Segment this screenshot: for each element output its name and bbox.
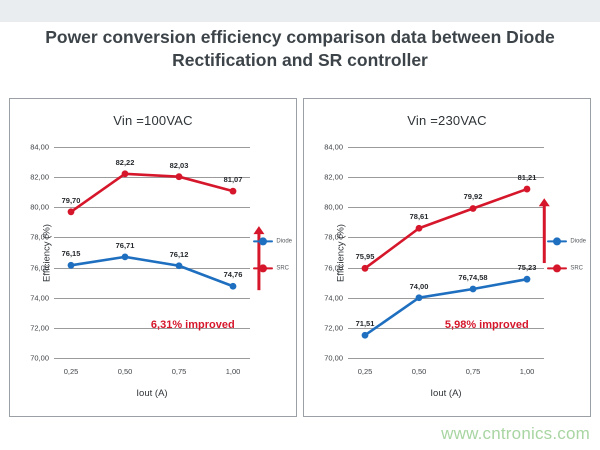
y-axis-tick: 74,00: [324, 293, 343, 302]
data-point-label: 82,22: [116, 158, 135, 167]
y-axis-tick: 74,00: [30, 293, 49, 302]
data-point-label: 79,92: [464, 192, 483, 201]
legend-left: Diode SRC: [253, 236, 292, 290]
data-point-label: 82,03: [170, 161, 189, 170]
src-line-marker-icon: [547, 263, 567, 273]
x-axis-tick: 0,75: [172, 367, 187, 376]
x-axis-tick: 1,00: [226, 367, 241, 376]
data-point: [524, 186, 531, 193]
improvement-arrow-head-icon: [539, 198, 550, 206]
data-point: [524, 276, 531, 283]
data-point: [416, 294, 423, 301]
y-axis-tick: 70,00: [324, 354, 343, 363]
y-axis-tick: 82,00: [324, 173, 343, 182]
y-axis-tick: 76,00: [324, 263, 343, 272]
legend-item-diode: Diode: [547, 236, 586, 246]
x-axis-tick: 0,25: [358, 367, 373, 376]
legend-item-diode: Diode: [253, 236, 292, 246]
chart-title-right: Vin =230VAC: [304, 113, 590, 128]
y-axis-tick: 84,00: [324, 143, 343, 152]
legend-label-diode: Diode: [570, 238, 586, 244]
x-axis-tick: 1,00: [520, 367, 535, 376]
data-point-label: 71,51: [356, 319, 375, 328]
data-point: [122, 170, 129, 177]
y-axis-tick: 82,00: [30, 173, 49, 182]
y-axis-tick: 80,00: [324, 203, 343, 212]
data-point: [68, 208, 75, 215]
chart-panel-right: Vin =230VAC Efficiency (%) Iout (A) 70,0…: [303, 98, 591, 417]
y-axis-tick: 72,00: [30, 323, 49, 332]
data-point-label: 74,76: [224, 270, 243, 279]
diode-line-marker-icon: [547, 236, 567, 246]
diode-line-marker-icon: [253, 236, 273, 246]
series-line-diode: [71, 257, 233, 286]
legend-right: Diode SRC: [547, 236, 586, 290]
data-point: [470, 286, 477, 293]
grid-line: [54, 358, 250, 359]
legend-label-diode: Diode: [276, 238, 292, 244]
data-point: [470, 205, 477, 212]
legend-label-src: SRC: [276, 265, 289, 271]
y-axis-tick: 78,00: [30, 233, 49, 242]
data-point-label: 79,70: [62, 196, 81, 205]
data-point: [416, 225, 423, 232]
data-point: [122, 253, 129, 260]
data-point-label: 81,07: [224, 175, 243, 184]
legend-label-src: SRC: [570, 265, 583, 271]
improvement-note-left: 6,31% improved: [151, 319, 235, 331]
chart-title-left: Vin =100VAC: [10, 113, 296, 128]
y-axis-tick: 70,00: [30, 354, 49, 363]
data-point-label: 76,74,58: [458, 273, 487, 282]
x-axis-tick: 0,50: [412, 367, 427, 376]
data-point-label: 75,95: [356, 252, 375, 261]
series-line-src: [71, 174, 233, 212]
data-point: [176, 173, 183, 180]
y-axis-tick: 72,00: [324, 323, 343, 332]
series-line-src: [365, 189, 527, 268]
improvement-arrow-head-icon: [253, 226, 264, 234]
page-title: Power conversion efficiency comparison d…: [0, 26, 600, 72]
x-axis-tick: 0,75: [466, 367, 481, 376]
data-point-label: 81,21: [518, 173, 537, 182]
improvement-note-right: 5,98% improved: [445, 319, 529, 331]
data-point: [230, 283, 237, 290]
src-line-marker-icon: [253, 263, 273, 273]
legend-item-src: SRC: [253, 263, 292, 273]
x-axis-tick: 0,25: [64, 367, 79, 376]
data-point-label: 76,15: [62, 249, 81, 258]
y-axis-tick: 78,00: [324, 233, 343, 242]
data-point-label: 74,00: [410, 282, 429, 291]
data-point: [68, 262, 75, 269]
chart-panel-left: Vin =100VAC Efficiency (%) Iout (A) 70,0…: [9, 98, 297, 417]
y-axis-tick: 84,00: [30, 143, 49, 152]
legend-item-src: SRC: [547, 263, 586, 273]
x-axis-tick: 0,50: [118, 367, 133, 376]
x-axis-label-left: Iout (A): [54, 388, 250, 399]
data-point-label: 75,23: [518, 263, 537, 272]
grid-line: [348, 358, 544, 359]
data-point-label: 78,61: [410, 212, 429, 221]
y-axis-tick: 76,00: [30, 263, 49, 272]
data-point: [362, 265, 369, 272]
data-point-label: 76,71: [116, 241, 135, 250]
y-axis-tick: 80,00: [30, 203, 49, 212]
data-point: [362, 332, 369, 339]
charts-container: Vin =100VAC Efficiency (%) Iout (A) 70,0…: [9, 98, 591, 417]
watermark: www.cntronics.com: [0, 418, 600, 450]
x-axis-label-right: Iout (A): [348, 388, 544, 399]
data-point: [176, 262, 183, 269]
top-band: [0, 0, 600, 22]
data-point-label: 76,12: [170, 250, 189, 259]
data-point: [230, 188, 237, 195]
